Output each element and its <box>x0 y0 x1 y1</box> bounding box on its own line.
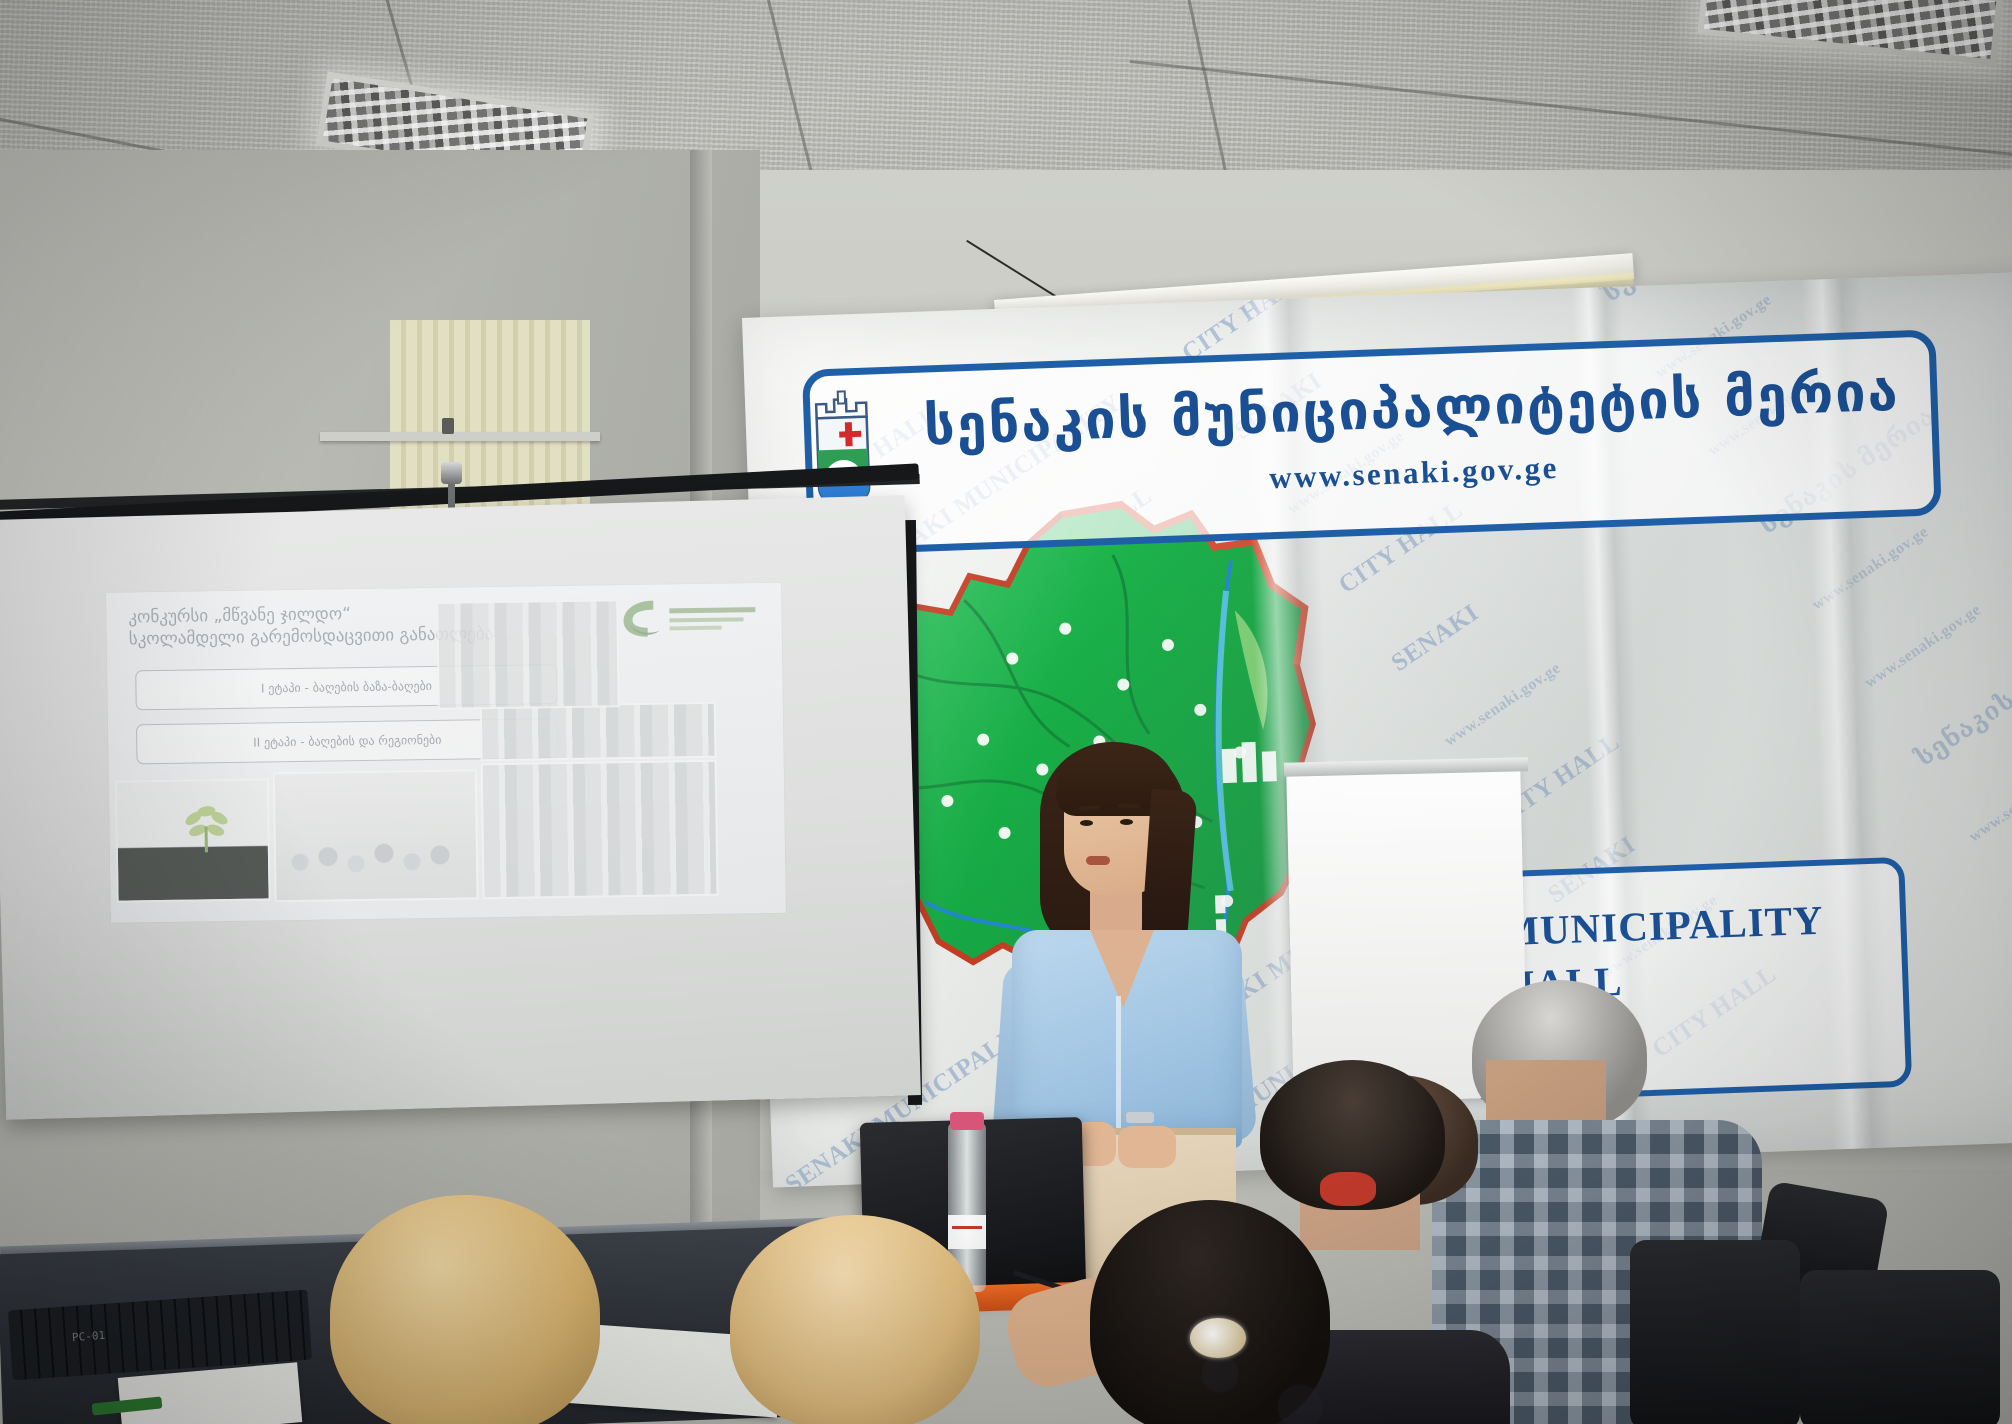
plate-line-municipality: MUNICIPALITY <box>1500 896 1825 956</box>
water-bottle-cap <box>950 1112 984 1130</box>
monitor-label: PC-01 <box>72 1329 106 1344</box>
presenter-blouse-placket <box>1116 996 1121 1136</box>
green-c-organisation-logo-icon <box>619 595 760 641</box>
water-bottle-label <box>948 1215 986 1249</box>
audience-patterned-blouse <box>1160 1330 1360 1424</box>
audience-hair-clip <box>1190 1318 1246 1358</box>
conference-room-photo: SENAKI MUNICIPALITY CITY HALL www.senaki… <box>0 0 2012 1424</box>
chair-right-2 <box>1800 1270 2000 1424</box>
audience-blonde-woman-center <box>730 1215 980 1424</box>
chair-right-1 <box>1630 1240 1800 1424</box>
audience-red-hair-tie <box>1320 1172 1376 1206</box>
audience-blonde-woman-left <box>330 1195 600 1424</box>
screen-pole-knob <box>441 462 462 484</box>
senaki-coat-of-arms-icon <box>802 386 892 511</box>
presenter-wristwatch <box>1126 1112 1154 1123</box>
pull-down-projection-screen: კონკურსი „მწვანე ჯილდო“ სკოლამდელი გარემ… <box>0 495 921 1120</box>
photo-conference-audience <box>273 769 479 902</box>
wall-mount-bracket <box>442 418 454 434</box>
photo-award-ceremony-header <box>436 599 620 710</box>
photo-award-group <box>481 760 719 899</box>
presenter-hand-right <box>1118 1126 1176 1168</box>
presenter-lips <box>1086 856 1110 865</box>
presenter-eye-left <box>1080 820 1093 826</box>
presenter-eye-right <box>1120 819 1133 825</box>
potted-plant-icon <box>183 802 230 855</box>
photo-ceremony-top <box>480 702 717 761</box>
photo-plant-on-desk <box>115 778 271 902</box>
blind-rail <box>320 432 600 441</box>
projected-slide: კონკურსი „მწვანე ჯილდო“ სკოლამდელი გარემ… <box>106 583 786 923</box>
